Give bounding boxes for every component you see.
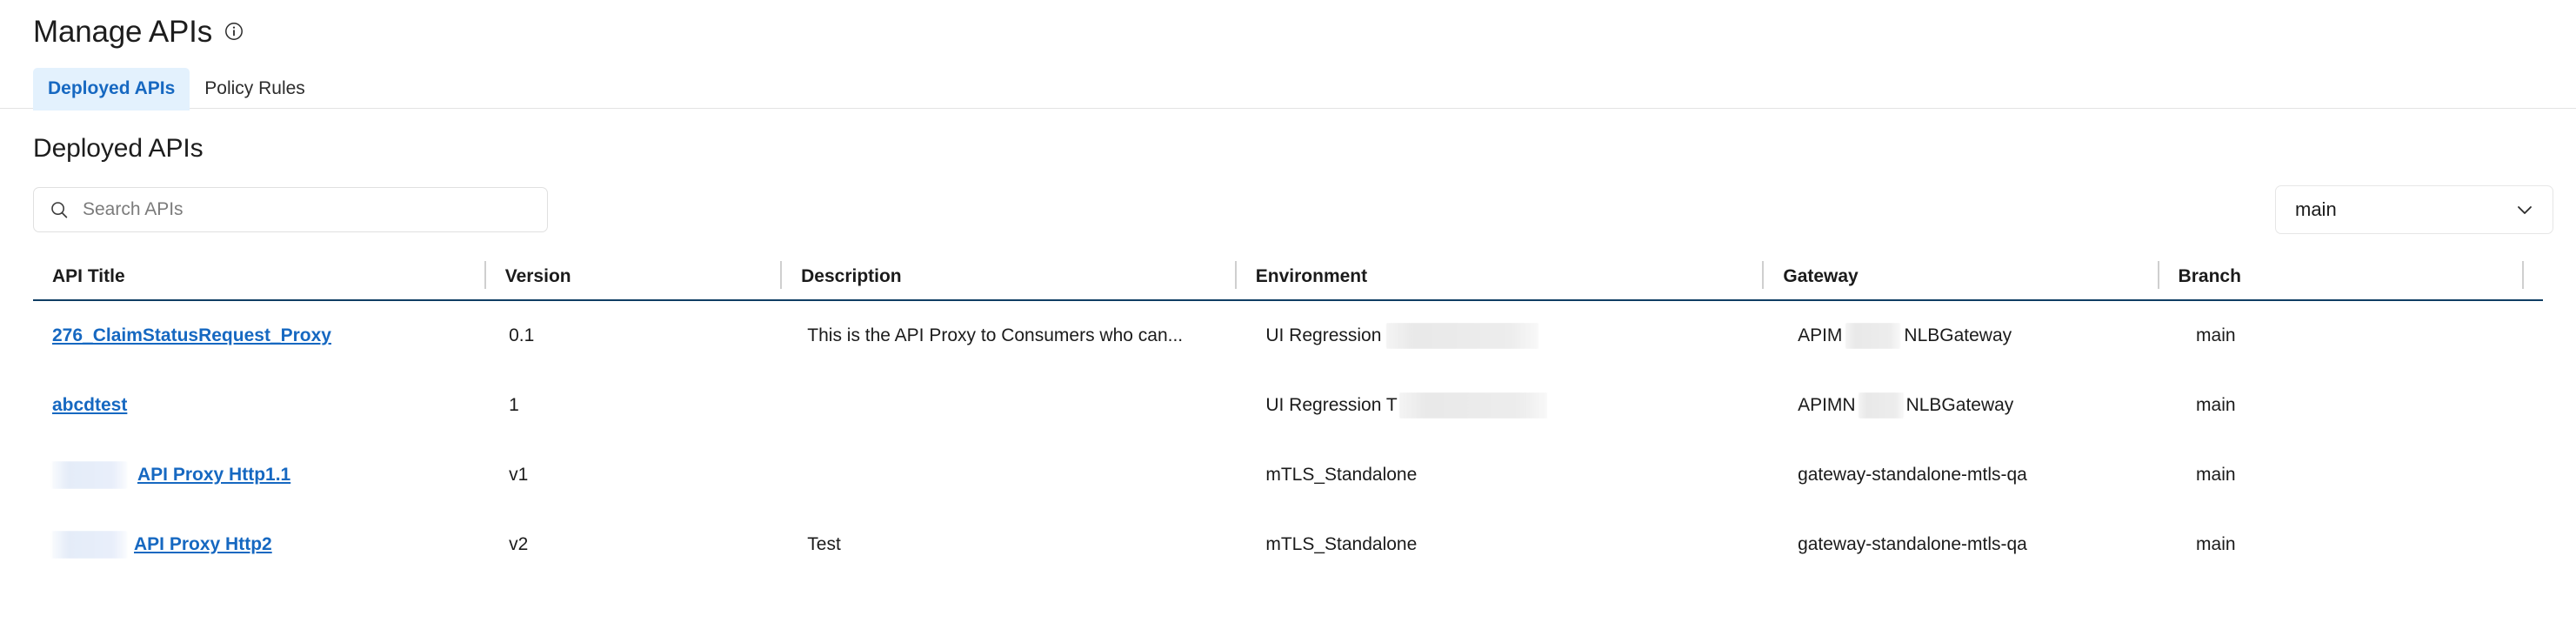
- environment-text: UI Regression T: [1265, 395, 1397, 416]
- cell-branch: main: [2175, 465, 2543, 486]
- column-header-label: Environment: [1256, 266, 1367, 287]
- deployed-apis-table: API Title Version Description Environmen…: [33, 254, 2543, 579]
- cell-environment: mTLS_Standalone: [1245, 465, 1777, 486]
- tab-deployed-apis[interactable]: Deployed APIs: [33, 68, 190, 111]
- page-title: Manage APIs: [33, 17, 212, 47]
- page-header: Manage APIs: [0, 0, 2576, 50]
- branch-filter-value: main: [2295, 198, 2337, 221]
- branch-filter-select[interactable]: main: [2275, 185, 2553, 234]
- tab-policy-rules[interactable]: Policy Rules: [190, 68, 320, 111]
- table-row[interactable]: API Proxy Http1.1 v1 mTLS_Standalone gat…: [33, 440, 2543, 510]
- api-title-link[interactable]: abcdtest: [52, 395, 127, 416]
- cell-api-title: abcdtest: [33, 395, 488, 416]
- search-box[interactable]: [33, 187, 548, 232]
- redacted-block: [1386, 323, 1538, 349]
- column-header-label: API Title: [52, 266, 125, 287]
- chevron-down-icon: [2513, 198, 2536, 221]
- cell-gateway: APIM NLBGateway: [1777, 323, 2175, 349]
- table-row[interactable]: 276_ClaimStatusRequest_Proxy 0.1 This is…: [33, 301, 2543, 371]
- cell-api-title: API Proxy Http2: [33, 531, 488, 559]
- cell-api-title: API Proxy Http1.1: [33, 461, 488, 489]
- page-title-row: Manage APIs: [33, 12, 2576, 50]
- gateway-suffix: NLBGateway: [1906, 395, 2014, 416]
- gateway-prefix: APIM: [1798, 325, 1842, 346]
- cell-version: 0.1: [488, 325, 786, 346]
- gateway-prefix: gateway-standalone-mtls-qa: [1798, 465, 2027, 486]
- deployed-apis-section: Deployed APIs main API Title Vers: [0, 136, 2576, 579]
- cell-gateway: gateway-standalone-mtls-qa: [1777, 465, 2175, 486]
- info-circle-icon[interactable]: [224, 21, 244, 42]
- column-header-api-title[interactable]: API Title: [33, 254, 484, 299]
- cell-environment: UI Regression: [1245, 323, 1777, 349]
- column-header-description[interactable]: Description: [780, 254, 1235, 299]
- api-title-link[interactable]: 276_ClaimStatusRequest_Proxy: [52, 325, 331, 346]
- table-header-row: API Title Version Description Environmen…: [33, 254, 2543, 301]
- search-icon: [50, 200, 69, 219]
- redacted-block: [1399, 392, 1547, 419]
- table-body: 276_ClaimStatusRequest_Proxy 0.1 This is…: [33, 301, 2543, 579]
- section-title: Deployed APIs: [33, 136, 2543, 162]
- environment-text: mTLS_Standalone: [1265, 534, 1417, 555]
- column-header-overflow: [2522, 254, 2543, 299]
- environment-text: mTLS_Standalone: [1265, 465, 1417, 486]
- cell-version: v1: [488, 465, 786, 486]
- cell-version: 1: [488, 395, 786, 416]
- controls-row: main: [33, 187, 2543, 232]
- gateway-prefix: gateway-standalone-mtls-qa: [1798, 534, 2027, 555]
- column-header-label: Version: [505, 266, 571, 287]
- api-title-link[interactable]: API Proxy Http2: [134, 534, 272, 555]
- cell-description: This is the API Proxy to Consumers who c…: [786, 325, 1245, 346]
- environment-text: UI Regression: [1265, 325, 1381, 346]
- cell-description: Test: [786, 534, 1245, 555]
- column-header-branch[interactable]: Branch: [2158, 254, 2522, 299]
- cell-environment: mTLS_Standalone: [1245, 534, 1777, 555]
- redacted-block: [52, 461, 127, 489]
- column-header-environment[interactable]: Environment: [1235, 254, 1763, 299]
- tab-bar: Deployed APIs Policy Rules: [0, 68, 2576, 109]
- redacted-block: [1859, 392, 1904, 419]
- api-title-link[interactable]: API Proxy Http1.1: [137, 465, 290, 486]
- cell-branch: main: [2175, 395, 2543, 416]
- column-header-label: Gateway: [1783, 266, 1858, 287]
- tabs: Deployed APIs Policy Rules: [33, 68, 2576, 108]
- cell-branch: main: [2175, 534, 2543, 555]
- cell-branch: main: [2175, 325, 2543, 346]
- redacted-block: [1845, 323, 1900, 349]
- table-row[interactable]: abcdtest 1 UI Regression T APIMN NLBGate…: [33, 371, 2543, 440]
- cell-environment: UI Regression T: [1245, 392, 1777, 419]
- table-row[interactable]: API Proxy Http2 v2 Test mTLS_Standalone …: [33, 510, 2543, 579]
- cell-api-title: 276_ClaimStatusRequest_Proxy: [33, 325, 488, 346]
- search-input[interactable]: [81, 198, 531, 221]
- column-header-gateway[interactable]: Gateway: [1762, 254, 2157, 299]
- gateway-suffix: NLBGateway: [1904, 325, 2012, 346]
- gateway-prefix: APIMN: [1798, 395, 1856, 416]
- column-header-label: Description: [801, 266, 902, 287]
- column-header-label: Branch: [2179, 266, 2241, 287]
- column-header-version[interactable]: Version: [484, 254, 780, 299]
- redacted-block: [52, 531, 127, 559]
- cell-version: v2: [488, 534, 786, 555]
- cell-gateway: gateway-standalone-mtls-qa: [1777, 534, 2175, 555]
- cell-gateway: APIMN NLBGateway: [1777, 392, 2175, 419]
